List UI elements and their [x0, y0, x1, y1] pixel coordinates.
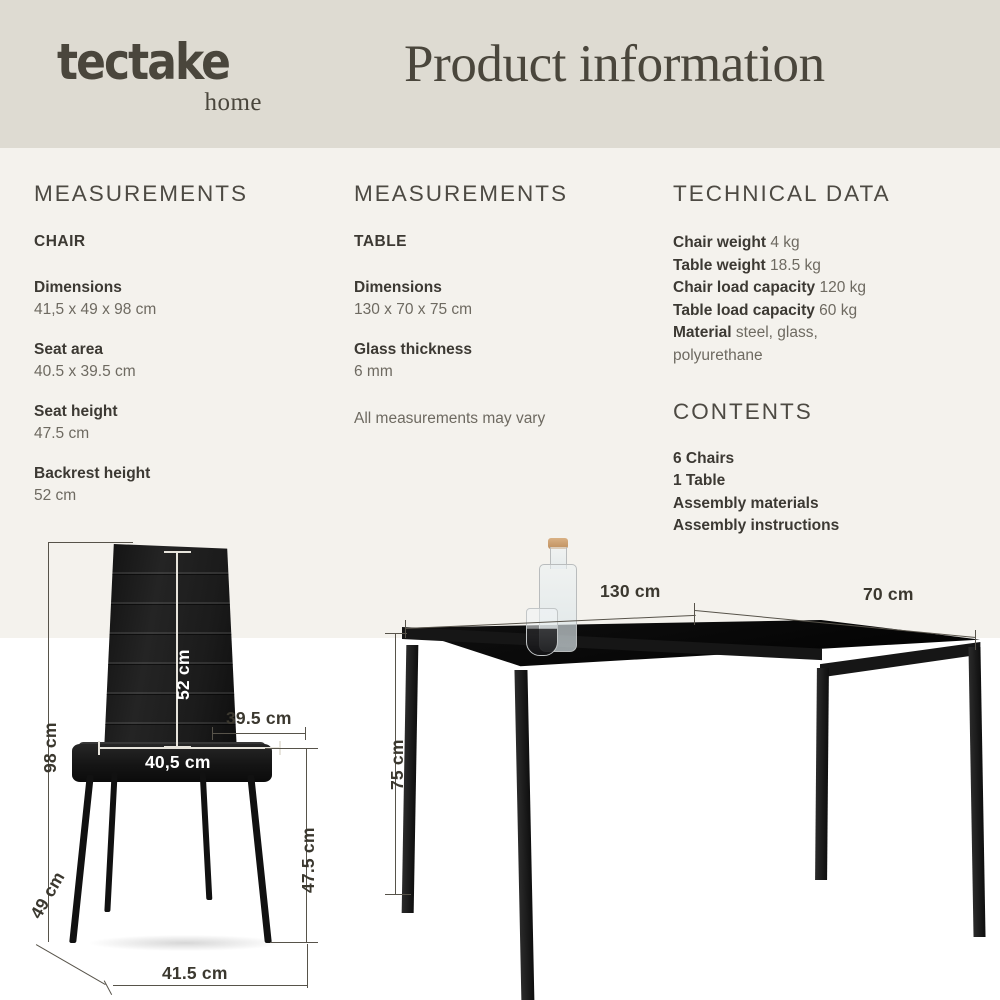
- table-leg-front-center: [514, 670, 534, 1000]
- spec-material-continued: polyurethane: [673, 345, 983, 368]
- section-title-technical-data: TECHNICAL DATA: [673, 180, 983, 208]
- chair-seat-area-value: 40.5 x 39.5 cm: [34, 361, 334, 383]
- spec-chair-weight-label: Chair weight: [673, 234, 766, 251]
- dim-label-table-height: 75 cm: [387, 739, 408, 790]
- logo-subbrand: home: [57, 89, 262, 117]
- logo-wordmark: tectake: [57, 36, 246, 88]
- section-title-contents: CONTENTS: [673, 398, 983, 426]
- chair-leg-front-right: [247, 775, 272, 943]
- chair-backrest-height-value: 52 cm: [34, 485, 334, 507]
- dim-ext-total-top: [48, 542, 133, 543]
- dim-label-table-width: 70 cm: [863, 584, 914, 605]
- section-title-measurements-chair: MEASUREMENTS: [34, 180, 334, 208]
- table-frame-apron-right: [820, 642, 982, 690]
- dim-ext-seat-height-top: [265, 748, 318, 749]
- spec-table-load-capacity-label: Table load capacity: [673, 302, 815, 319]
- dim-label-base-width: 41.5 cm: [162, 963, 228, 984]
- spec-table-weight-value: 18.5 kg: [770, 257, 821, 274]
- spec-chair-load-capacity-label: Chair load capacity: [673, 279, 815, 296]
- product-information-sheet: tectake home Product information MEASURE…: [0, 0, 1000, 1000]
- chair-leg-rear-right: [200, 772, 213, 900]
- contents-item-assembly-materials: Assembly materials: [673, 493, 983, 516]
- glass-thickness-label: Glass thickness: [354, 339, 654, 361]
- chair-seat-area-label: Seat area: [34, 339, 334, 361]
- table-leg-far-right: [968, 647, 985, 937]
- chair-seat-height-label: Seat height: [34, 401, 334, 423]
- dim-label-table-length: 130 cm: [600, 581, 661, 602]
- dim-cap-base-width-left: [103, 980, 112, 995]
- dim-cap-width-right: [975, 630, 976, 650]
- dim-cap-base-width-right: [307, 944, 308, 988]
- spec-table-weight-label: Table weight: [673, 257, 766, 274]
- spec-chair-weight: Chair weight 4 kg: [673, 232, 983, 255]
- chair-leg-rear-left: [104, 772, 117, 912]
- dim-label-seat-width: 40,5 cm: [145, 752, 211, 773]
- tectake-logo: tectake home: [57, 36, 272, 120]
- dim-label-total-height: 98 cm: [40, 722, 61, 773]
- chair-dimensions-value: 41,5 x 49 x 98 cm: [34, 299, 334, 321]
- column-table-measurements: MEASUREMENTS TABLE Dimensions 130 x 70 x…: [354, 180, 654, 430]
- dim-cap-length-left: [405, 620, 406, 638]
- table-dimensions-value: 130 x 70 x 75 cm: [354, 299, 654, 321]
- header-band: tectake home Product information: [0, 0, 1000, 148]
- chair-leg-front-left: [69, 775, 94, 943]
- dim-label-backrest-height: 52 cm: [173, 649, 194, 700]
- column-technical-data: TECHNICAL DATA Chair weight 4 kg Table w…: [673, 180, 983, 538]
- dim-line-seat-depth: [212, 733, 306, 734]
- drinking-glass: [526, 608, 558, 656]
- dim-label-base-depth: 49 cm: [26, 868, 69, 922]
- spec-chair-load-capacity-value: 120 kg: [819, 279, 866, 296]
- table-diagram: 130 cm 70 cm 75 cm: [380, 520, 1000, 1000]
- chair-seat-height-value: 47.5 cm: [34, 423, 334, 445]
- dim-label-seat-depth: 39.5 cm: [226, 708, 292, 729]
- glass-thickness-value: 6 mm: [354, 361, 654, 383]
- spec-material-value: steel, glass,: [736, 324, 818, 341]
- dim-line-seat-width: [98, 747, 281, 749]
- contents-item-table: 1 Table: [673, 470, 983, 493]
- dim-cap-seat-depth-right: [305, 727, 306, 740]
- dim-ext-height-bottom: [385, 894, 411, 895]
- dim-ext-seat-height-bottom: [270, 942, 318, 943]
- measurements-disclaimer: All measurements may vary: [354, 408, 654, 430]
- table-dimensions-label: Dimensions: [354, 277, 654, 299]
- spec-table-load-capacity: Table load capacity 60 kg: [673, 300, 983, 323]
- spec-table-weight: Table weight 18.5 kg: [673, 255, 983, 278]
- dim-line-base-width: [113, 985, 308, 986]
- dim-cap-backrest-top: [164, 551, 191, 553]
- subject-table: TABLE: [354, 232, 654, 252]
- chair-dimensions-label: Dimensions: [34, 277, 334, 299]
- column-chair-measurements: MEASUREMENTS CHAIR Dimensions 41,5 x 49 …: [34, 180, 334, 507]
- contents-item-chairs: 6 Chairs: [673, 448, 983, 471]
- chair-backrest-height-label: Backrest height: [34, 463, 334, 485]
- spec-material: Material steel, glass,: [673, 322, 983, 345]
- dim-cap-seat-width-left: [98, 741, 100, 755]
- spec-chair-load-capacity: Chair load capacity 120 kg: [673, 277, 983, 300]
- spec-chair-weight-value: 4 kg: [770, 234, 799, 251]
- chair-shadow: [90, 935, 280, 951]
- subject-chair: CHAIR: [34, 232, 334, 252]
- dim-cap-length-right: [694, 603, 695, 625]
- table-leg-rear-right: [815, 668, 829, 880]
- chair-diagram: 52 cm 98 cm 39.5 cm 40,5 cm 47.5 cm 49 c…: [0, 520, 380, 1000]
- dim-label-seat-height: 47.5 cm: [298, 827, 319, 893]
- spec-table-load-capacity-value: 60 kg: [819, 302, 857, 319]
- page-title: Product information: [404, 33, 924, 95]
- chair-backrest: [103, 544, 238, 774]
- section-title-measurements-table: MEASUREMENTS: [354, 180, 654, 208]
- dim-cap-seat-depth-left: [212, 727, 213, 740]
- dim-ext-height-top: [385, 633, 407, 634]
- spec-material-label: Material: [673, 324, 732, 341]
